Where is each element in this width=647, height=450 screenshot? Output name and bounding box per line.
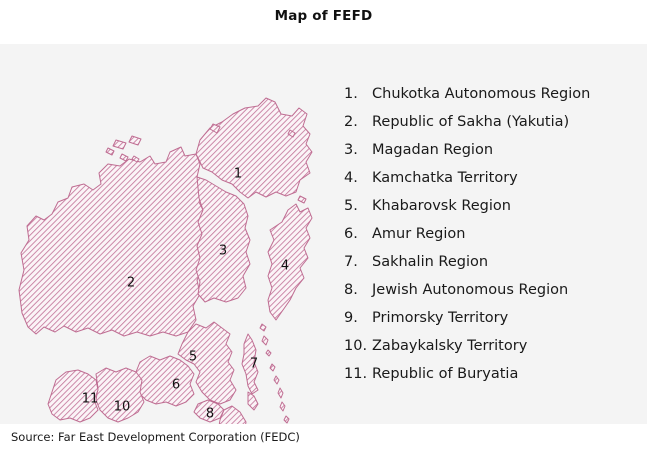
legend-item-number: 5. — [344, 198, 372, 214]
legend-item-number: 3. — [344, 142, 372, 158]
legend-item[interactable]: 1.Chukotka Autonomous Region — [344, 86, 640, 114]
map-figure[interactable]: 1234567891011 — [0, 44, 340, 424]
legend-item[interactable]: 7.Sakhalin Region — [344, 254, 640, 282]
map-region-label: 7 — [250, 358, 258, 371]
legend-item[interactable]: 11.Republic of Buryatia — [344, 366, 640, 394]
region-magadan — [196, 177, 250, 302]
map-region-label: 3 — [219, 245, 227, 258]
map-region-label: 8 — [206, 408, 214, 421]
legend-item[interactable]: 4.Kamchatka Territory — [344, 170, 640, 198]
map-region-label: 1 — [234, 168, 242, 181]
legend-item[interactable]: 6.Amur Region — [344, 226, 640, 254]
page-title: Map of FEFD — [0, 8, 647, 24]
legend-item-number: 11. — [344, 366, 372, 382]
map-region-label: 5 — [189, 351, 197, 364]
legend-item-label: Zabaykalsky Territory — [372, 338, 527, 354]
legend-item[interactable]: 2.Republic of Sakha (Yakutia) — [344, 114, 640, 142]
kuril-islands — [260, 324, 289, 423]
legend-list: 1.Chukotka Autonomous Region2.Republic o… — [344, 86, 640, 394]
legend-item-label: Chukotka Autonomous Region — [372, 86, 590, 102]
legend-item[interactable]: 9.Primorsky Territory — [344, 310, 640, 338]
map-region-label: 11 — [82, 393, 99, 406]
legend-item-label: Amur Region — [372, 226, 465, 242]
legend-item-number: 10. — [344, 338, 372, 354]
legend-item[interactable]: 3.Magadan Region — [344, 142, 640, 170]
legend-item-number: 4. — [344, 170, 372, 186]
map-region-label: 4 — [281, 260, 289, 273]
legend-item-number: 8. — [344, 282, 372, 298]
legend-item[interactable]: 5.Khabarovsk Region — [344, 198, 640, 226]
legend-item-label: Republic of Buryatia — [372, 366, 518, 382]
legend-item-number: 2. — [344, 114, 372, 130]
fefd-map-svg[interactable] — [0, 44, 340, 424]
legend-item-label: Kamchatka Territory — [372, 170, 518, 186]
region-kamchatka — [268, 204, 312, 320]
region-sakhalin-south — [248, 392, 258, 410]
legend-item[interactable]: 10.Zabaykalsky Territory — [344, 338, 640, 366]
legend-item-number: 9. — [344, 310, 372, 326]
legend-item-number: 6. — [344, 226, 372, 242]
map-region-label: 10 — [114, 401, 131, 414]
region-chukotka — [196, 98, 312, 198]
legend-item-label: Sakhalin Region — [372, 254, 488, 270]
map-region-label: 2 — [127, 277, 135, 290]
legend-item-label: Primorsky Territory — [372, 310, 508, 326]
figure-container: Map of FEFD — [0, 0, 647, 450]
legend-item-label: Jewish Autonomous Region — [372, 282, 568, 298]
legend-item-label: Magadan Region — [372, 142, 493, 158]
legend-item[interactable]: 8.Jewish Autonomous Region — [344, 282, 640, 310]
legend-item-label: Khabarovsk Region — [372, 198, 511, 214]
legend-item-number: 1. — [344, 86, 372, 102]
region-sakha — [19, 147, 206, 336]
map-region-label: 6 — [172, 379, 180, 392]
legend-item-number: 7. — [344, 254, 372, 270]
source-note: Source: Far East Development Corporation… — [11, 430, 300, 444]
legend-item-label: Republic of Sakha (Yakutia) — [372, 114, 569, 130]
